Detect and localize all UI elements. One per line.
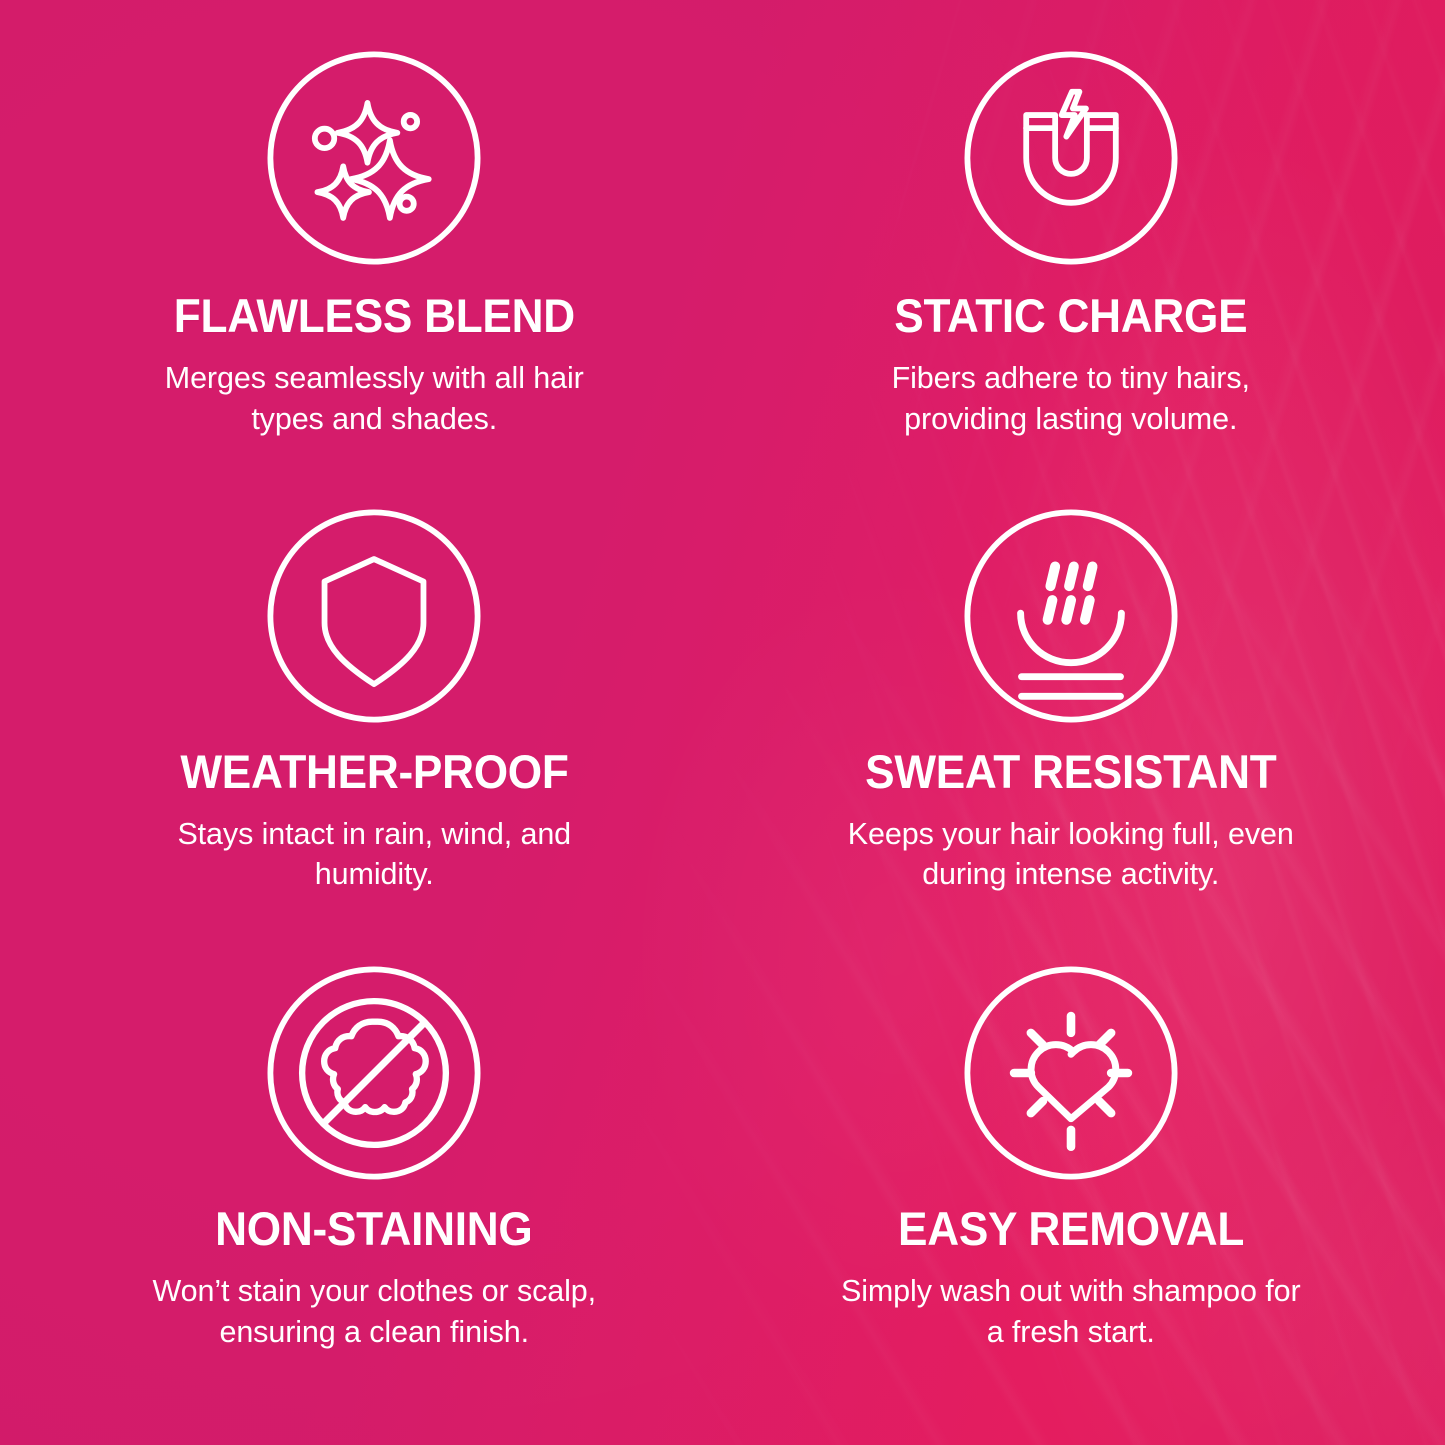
feature-description: Won’t stain your clothes or scalp, ensur… [144, 1271, 604, 1352]
sweat-droplets-icon [959, 504, 1183, 728]
feature-description: Simply wash out with shampoo for a fresh… [841, 1271, 1301, 1352]
feature-title: STATIC CHARGE [894, 292, 1247, 340]
feature-title: NON-STAINING [216, 1205, 533, 1253]
feature-description: Merges seamlessly with all hair types an… [144, 358, 604, 439]
feature-description: Keeps your hair looking full, even durin… [841, 814, 1301, 895]
feature-card-easy-removal: EASY REMOVAL Simply wash out with shampo… [723, 957, 1420, 1415]
feature-grid: FLAWLESS BLEND Merges seamlessly with al… [0, 0, 1445, 1445]
feature-description: Stays intact in rain, wind, and humidity… [144, 814, 604, 895]
feature-card-flawless-blend: FLAWLESS BLEND Merges seamlessly with al… [26, 42, 723, 500]
feature-card-static-charge: STATIC CHARGE Fibers adhere to tiny hair… [723, 42, 1420, 500]
feature-title: FLAWLESS BLEND [174, 292, 575, 340]
feature-title: WEATHER-PROOF [180, 748, 568, 796]
feature-infographic: FLAWLESS BLEND Merges seamlessly with al… [0, 0, 1445, 1445]
magnet-lightning-icon [959, 46, 1183, 270]
shining-heart-icon [959, 961, 1183, 1185]
no-stain-icon [262, 961, 486, 1185]
feature-card-weather-proof: WEATHER-PROOF Stays intact in rain, wind… [26, 500, 723, 958]
sparkles-icon [262, 46, 486, 270]
shield-icon [262, 504, 486, 728]
feature-card-sweat-resistant: SWEAT RESISTANT Keeps your hair looking … [723, 500, 1420, 958]
feature-description: Fibers adhere to tiny hairs, providing l… [841, 358, 1301, 439]
feature-title: SWEAT RESISTANT [865, 748, 1276, 796]
feature-title: EASY REMOVAL [898, 1205, 1244, 1253]
feature-card-non-staining: NON-STAINING Won’t stain your clothes or… [26, 957, 723, 1415]
